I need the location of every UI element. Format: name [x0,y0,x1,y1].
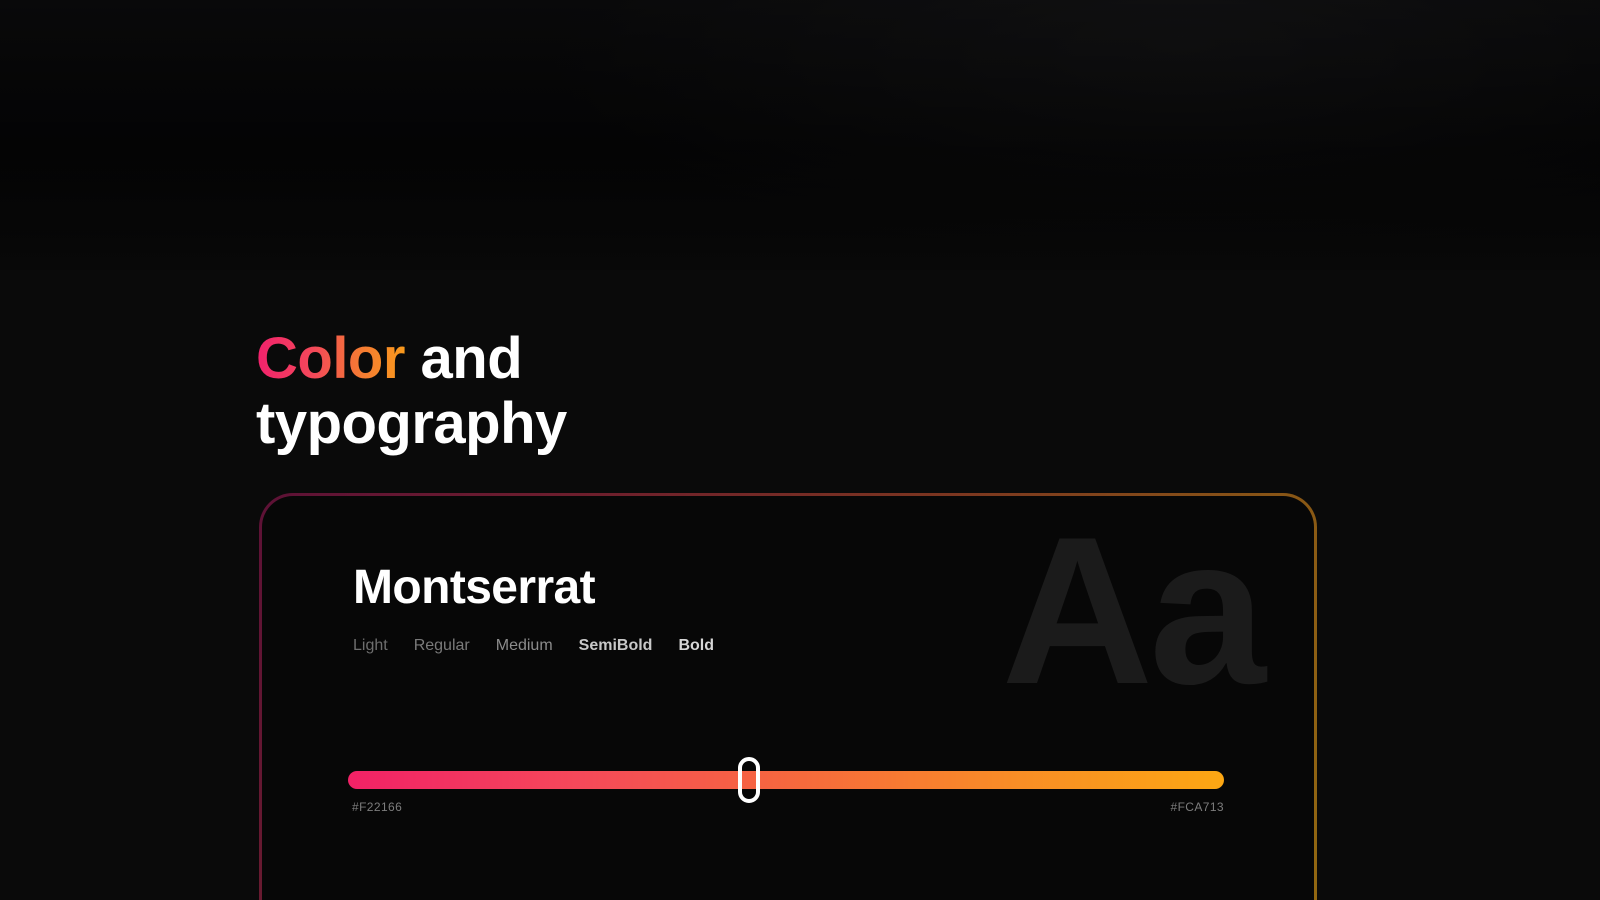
font-weight-light[interactable]: Light [353,637,388,655]
font-weight-semibold[interactable]: SemiBold [579,637,653,655]
notes-app-icon [1360,0,1600,152]
slider-hex-labels: #F22166 #FCA713 [348,800,1224,816]
page-title-line2: typography [256,391,567,456]
page-root: Mail Notes Color andtypography Aa Montse… [0,0,1600,900]
font-weight-medium[interactable]: Medium [496,637,553,655]
mail-app-icon [1075,0,1303,199]
hex-start-label: #F22166 [352,800,402,814]
page-title-accent: Color [256,326,405,391]
slider-track[interactable] [348,771,1224,789]
slider-handle[interactable] [738,757,760,803]
page-title-rest: and [405,326,522,391]
card-content: Montserrat Light Regular Medium SemiBold… [353,560,1250,655]
background-photo: Mail Notes [0,0,1600,260]
font-weight-bold[interactable]: Bold [678,637,714,655]
typography-card: Aa Montserrat Light Regular Medium SemiB… [259,493,1317,900]
font-weight-list: Light Regular Medium SemiBold Bold [353,637,1250,655]
page-title: Color andtypography [256,327,956,457]
notes-rule-line [1393,0,1583,27]
icon-grid-wireframe [300,0,600,130]
mail-envelope-icon [1108,15,1271,148]
hex-end-label: #FCA713 [1171,800,1225,814]
color-gradient-slider[interactable]: #F22166 #FCA713 [348,771,1224,816]
font-family-name: Montserrat [353,560,1250,615]
phone-body-edge [826,0,1124,260]
font-weight-regular[interactable]: Regular [414,637,470,655]
